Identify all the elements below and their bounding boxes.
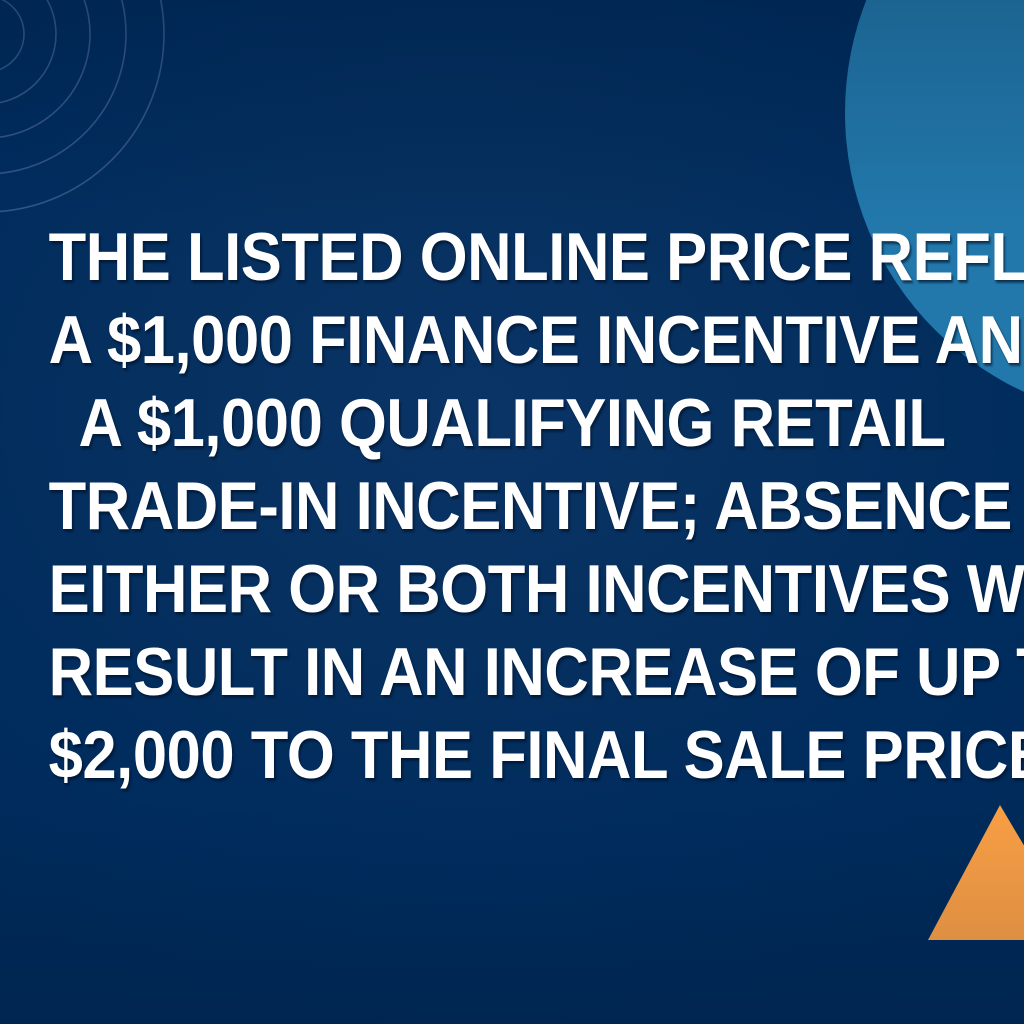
headline-line-5: EITHER OR BOTH INCENTIVES WILL (49, 548, 976, 631)
headline-line-2: A $1,000 FINANCE INCENTIVE AND (49, 299, 976, 382)
headline-line-3: A $1,000 QUALIFYING RETAIL (49, 382, 976, 465)
headline-line-1: THE LISTED ONLINE PRICE REFLECTS (49, 216, 976, 299)
disclaimer-headline: THE LISTED ONLINE PRICE REFLECTS A $1,00… (49, 216, 976, 797)
orange-triangle-decoration (920, 800, 1024, 940)
headline-line-7: $2,000 TO THE FINAL SALE PRICE. (49, 714, 976, 797)
headline-line-4: TRADE-IN INCENTIVE; ABSENCE OF (49, 465, 976, 548)
promo-disclaimer-graphic: THE LISTED ONLINE PRICE REFLECTS A $1,00… (0, 0, 1024, 1024)
headline-line-6: RESULT IN AN INCREASE OF UP TO (49, 631, 976, 714)
